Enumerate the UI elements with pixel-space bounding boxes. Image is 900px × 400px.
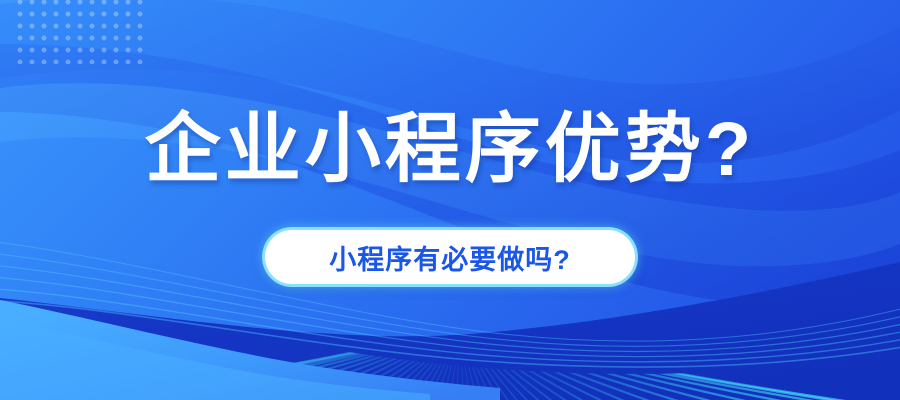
wave-top-right-darker xyxy=(0,0,900,163)
subtitle-pill-label: 小程序有必要做吗? xyxy=(329,238,571,277)
promo-banner: 企业小程序优势? 小程序有必要做吗? xyxy=(0,0,900,400)
wave-bottom-left-light-2 xyxy=(0,318,430,400)
banner-content: 企业小程序优势? 小程序有必要做吗? xyxy=(0,0,900,400)
background-waves xyxy=(0,0,900,400)
dot-grid-pattern xyxy=(14,0,146,64)
wave-bottom-left-light xyxy=(0,300,500,400)
subtitle-pill[interactable]: 小程序有必要做吗? xyxy=(265,230,635,284)
radial-ray-burst xyxy=(0,330,900,400)
banner-headline: 企业小程序优势? xyxy=(0,112,900,188)
